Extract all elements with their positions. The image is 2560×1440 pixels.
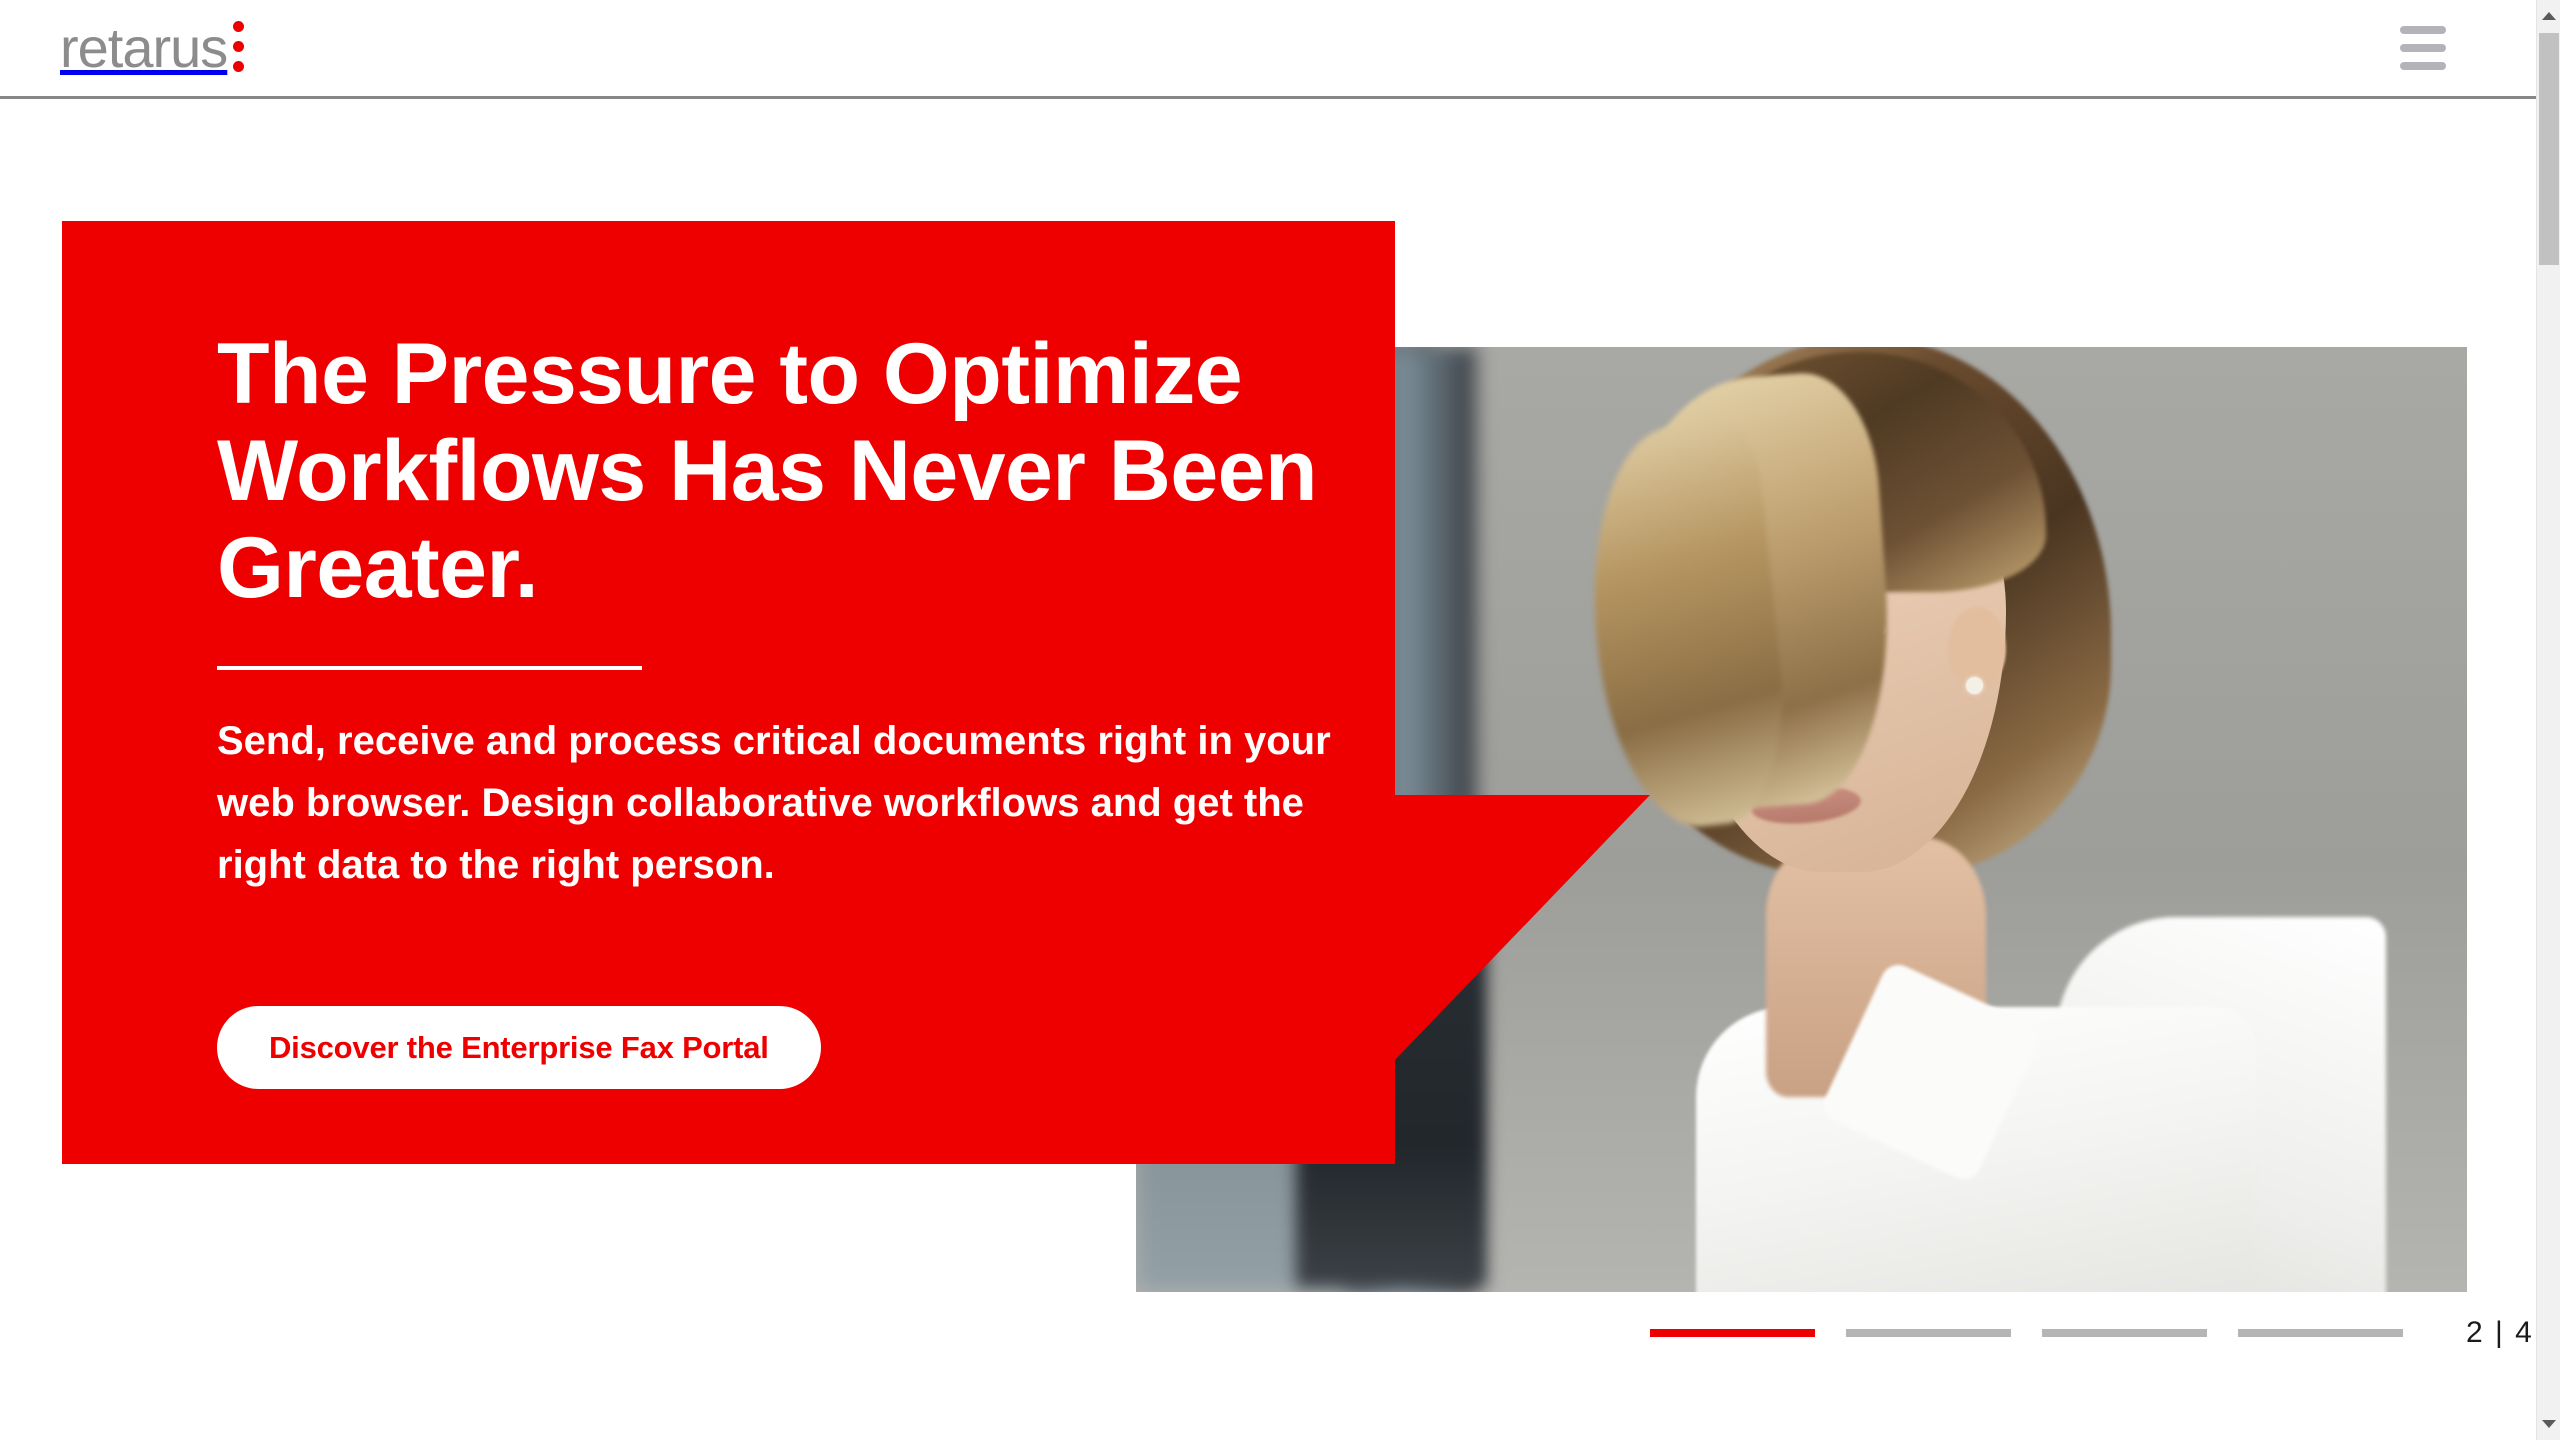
- woman-earring: [1966, 677, 1983, 694]
- logo-dot-2: [233, 41, 244, 52]
- carousel-bar-1[interactable]: [1650, 1329, 1815, 1337]
- logo-retarus[interactable]: retarus: [60, 20, 244, 76]
- page-root: retarus: [0, 0, 2560, 1440]
- carousel-bar-2[interactable]: [1846, 1329, 2011, 1337]
- hero-body-text: Send, receive and process critical docum…: [217, 710, 1337, 896]
- carousel-pagination: 2 | 4: [1650, 1316, 2534, 1350]
- hero-headline: The Pressure to Optimize Workflows Has N…: [217, 326, 1337, 618]
- carousel-bar-3[interactable]: [2042, 1329, 2207, 1337]
- vertical-scrollbar[interactable]: [2536, 0, 2560, 1440]
- hamburger-bar-1: [2400, 26, 2446, 34]
- hamburger-menu-icon[interactable]: [2394, 20, 2452, 76]
- discover-enterprise-fax-portal-button[interactable]: Discover the Enterprise Fax Portal: [217, 1006, 821, 1089]
- hero-bubble-tail: [1395, 795, 1650, 1060]
- logo-dot-1: [233, 21, 244, 32]
- hamburger-bar-3: [2400, 62, 2446, 70]
- hero-text-content: The Pressure to Optimize Workflows Has N…: [217, 326, 1337, 1089]
- carousel-bar-4[interactable]: [2238, 1329, 2403, 1337]
- hero-text-bubble: The Pressure to Optimize Workflows Has N…: [62, 221, 1395, 1164]
- hamburger-bar-2: [2400, 44, 2446, 52]
- scroll-down-arrow-icon[interactable]: [2537, 1412, 2560, 1436]
- scrollbar-thumb[interactable]: [2539, 33, 2559, 265]
- scroll-up-arrow-icon[interactable]: [2537, 4, 2560, 28]
- site-header: retarus: [0, 0, 2536, 99]
- carousel-counter: 2 | 4: [2466, 1316, 2534, 1350]
- logo-dot-3: [233, 61, 244, 72]
- logo-dots-icon: [233, 21, 244, 72]
- hero-divider-rule: [217, 666, 642, 670]
- logo-wordmark: retarus: [60, 20, 227, 76]
